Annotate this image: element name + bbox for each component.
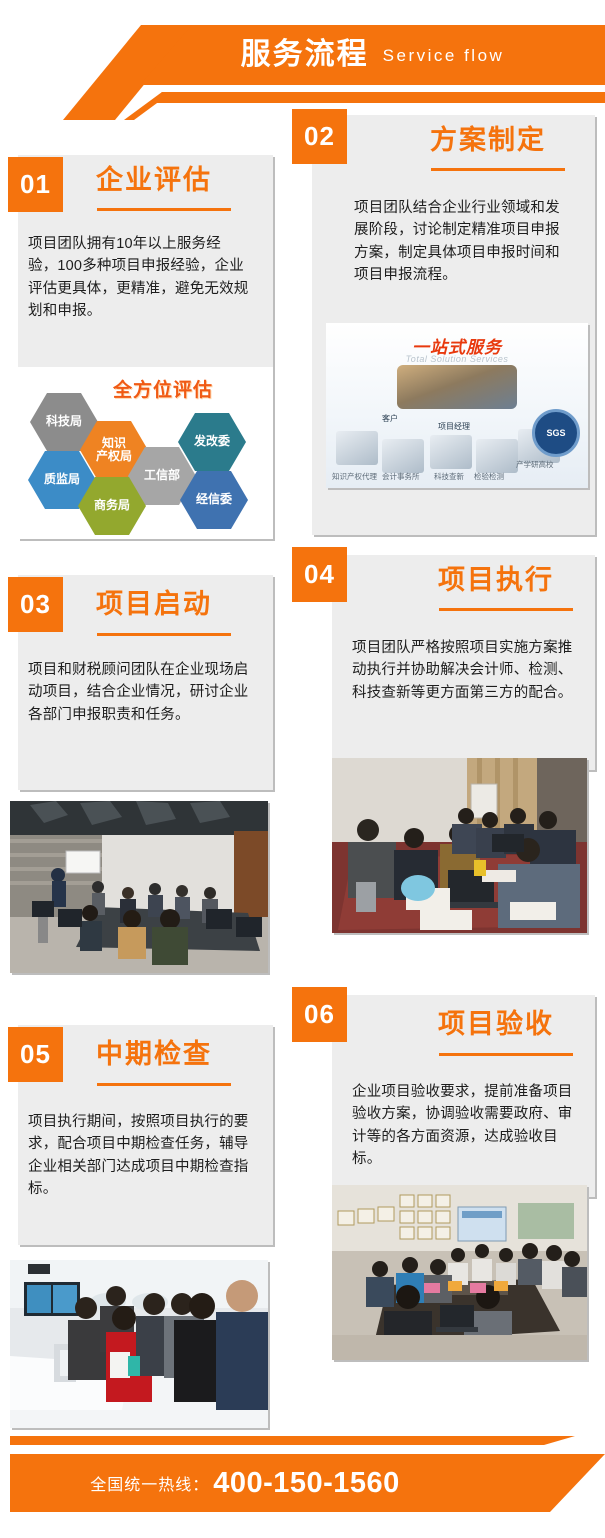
card-media-one-stop-service: 一站式服务 Total Solution Services 客户 项目经理 SG…: [326, 323, 588, 488]
sgs-seal-icon: SGS: [532, 409, 580, 457]
service-node-4: [476, 439, 518, 473]
card-media-photo-conference-room: [10, 801, 268, 973]
footer-stripe: [10, 1436, 575, 1445]
card-title: 企业评估: [96, 167, 212, 194]
flow-card-04[interactable]: 04 项目执行 项目团队严格按照项目实施方案推动执行并协助解决会计师、检测、科技…: [290, 545, 605, 975]
service-caption-5: 产学研高校: [516, 459, 554, 470]
card-media-hexagon-diagram: 全方位评估 科技局 知识 产权局 发改委 质监局 工信部 商务局 经信委: [18, 367, 273, 539]
service-caption-3: 科技查新: [434, 471, 464, 482]
step-number-badge: 01: [8, 157, 63, 212]
card-title: 项目验收: [438, 1011, 554, 1038]
card-description: 项目执行期间，按照项目执行的要求，配合项目中期检查任务，辅导企业相关部门达成项目…: [28, 1111, 250, 1201]
hexagon-diagram: 全方位评估 科技局 知识 产权局 发改委 质监局 工信部 商务局 经信委: [18, 367, 273, 539]
hexagon-diagram-title: 全方位评估: [113, 375, 213, 402]
flow-card-05[interactable]: 05 中期检查 项目执行期间，按照项目执行的要求，配合项目中期检查任务，辅导企业…: [0, 1015, 290, 1415]
hub-label-customer: 客户: [382, 413, 398, 424]
card-title: 项目执行: [438, 567, 554, 594]
flow-card-02[interactable]: 02 方案制定 项目团队结合企业行业领域和发展阶段，讨论制定精准项目申报方案，制…: [290, 105, 605, 545]
title-underline: [439, 608, 573, 611]
hotline-number[interactable]: 400-150-1560: [213, 1467, 400, 1500]
card-title: 项目启动: [96, 591, 212, 618]
title-underline: [439, 1053, 573, 1056]
card-description: 项目团队结合企业行业领域和发展阶段，讨论制定精准项目申报方案，制定具体项目申报时…: [354, 197, 570, 287]
step-number-badge: 03: [8, 577, 63, 632]
service-caption-2: 会计事务所: [382, 471, 420, 482]
service-flow-page: 服务流程 Service flow 01 企业评估 项目团队拥有10年以上服务经…: [0, 0, 605, 1538]
flow-card-03[interactable]: 03 项目启动 项目和财税顾问团队在企业现场启动项目，结合企业情况，研讨企业各部…: [0, 565, 290, 985]
one-stop-service-graphic: 一站式服务 Total Solution Services 客户 项目经理 SG…: [326, 323, 588, 488]
title-underline: [431, 168, 565, 171]
service-node-3: [430, 435, 472, 469]
service-node-2: [382, 439, 424, 473]
page-subtitle: Service flow: [383, 47, 505, 64]
step-number-badge: 05: [8, 1027, 63, 1082]
card-media-photo-acceptance-meeting: [332, 1185, 587, 1360]
header-title-group: 服务流程 Service flow: [140, 25, 605, 85]
header-stripe: [150, 92, 605, 103]
hex-node-fagai-wei: 发改委: [178, 413, 246, 471]
hotline-group: 全国统一热线： 400-150-1560: [10, 1454, 480, 1512]
flow-card-06[interactable]: 06 项目验收 企业项目验收要求，提前准备项目验收方案，协调验收需要政府、审计等…: [290, 985, 605, 1385]
hex-node-label: 知识 产权局: [96, 437, 132, 464]
title-underline: [97, 633, 231, 636]
acceptance-meeting-photo: [332, 1185, 587, 1360]
service-node-1: [336, 431, 378, 465]
hotline-label: 全国统一热线：: [90, 1471, 209, 1495]
flow-card-01[interactable]: 01 企业评估 项目团队拥有10年以上服务经验，100多种项目申报经验，企业评估…: [0, 145, 290, 545]
step-number-badge: 04: [292, 547, 347, 602]
one-stop-service-subtitle: Total Solution Services: [326, 354, 588, 364]
card-description: 项目团队拥有10年以上服务经验，100多种项目申报经验，企业评估更具体，更精准，…: [28, 233, 250, 323]
step-number-badge: 02: [292, 109, 347, 164]
page-title: 服务流程: [241, 40, 369, 70]
conference-room-photo: [10, 801, 268, 973]
hub-label-project-manager: 项目经理: [438, 421, 470, 432]
card-description: 项目和财税顾问团队在企业现场启动项目，结合企业情况，研讨企业各部门申报职责和任务…: [28, 659, 250, 726]
card-title: 中期检查: [96, 1041, 212, 1068]
card-description: 企业项目验收要求，提前准备项目验收方案，协调验收需要政府、审计等的各方面资源，达…: [352, 1081, 576, 1171]
working-meeting-photo: [332, 758, 587, 933]
step-number-badge: 06: [292, 987, 347, 1042]
page-header: 服务流程 Service flow: [0, 0, 605, 120]
card-description: 项目团队严格按照项目实施方案推动执行并协助解决会计师、检测、科技查新等更方面第三…: [352, 637, 576, 704]
one-stop-service-hub-photo: [397, 365, 517, 409]
title-underline: [97, 1083, 231, 1086]
card-title: 方案制定: [430, 127, 546, 154]
service-caption-4: 检验检测: [474, 471, 504, 482]
card-media-photo-site-visit: [10, 1260, 268, 1428]
card-media-photo-working-meeting: [332, 758, 587, 933]
site-visit-photo: [10, 1260, 268, 1428]
service-caption-1: 知识产权代理: [332, 471, 377, 482]
title-underline: [97, 208, 231, 211]
